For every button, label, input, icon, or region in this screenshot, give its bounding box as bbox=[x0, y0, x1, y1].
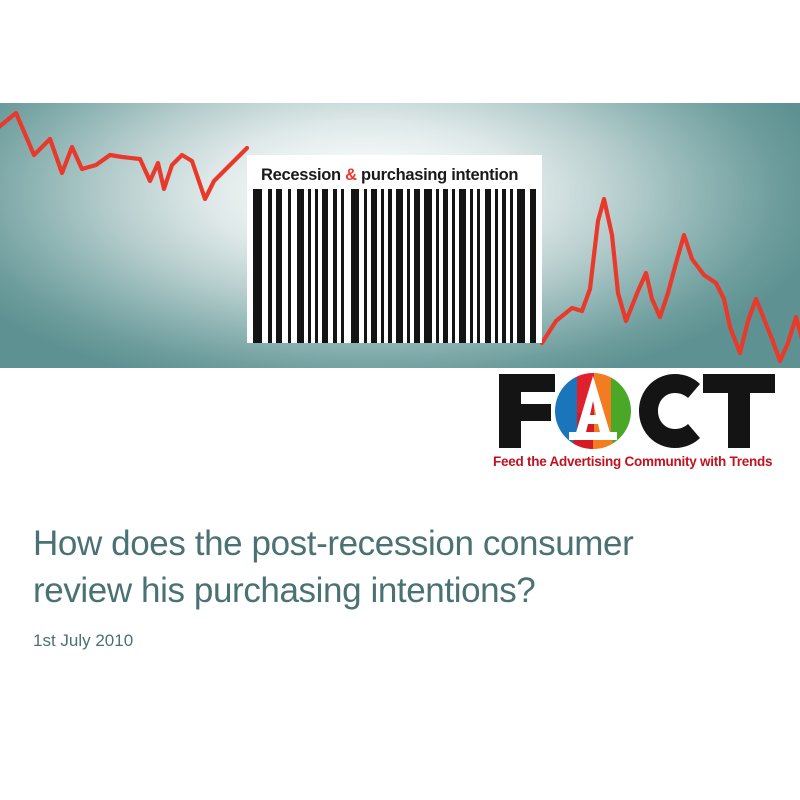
barcode-graphic: Recession & purchasing intention bbox=[247, 155, 542, 343]
logo-letter-t bbox=[703, 374, 775, 448]
fact-logo-mark bbox=[489, 370, 789, 452]
logo-letter-a-mark bbox=[555, 373, 633, 449]
fact-logo-tagline: Feed the Advertising Community with Tren… bbox=[493, 453, 789, 470]
logo-letter-f bbox=[499, 374, 555, 448]
trend-line-right bbox=[542, 199, 800, 361]
slide-root: Recession & purchasing intention bbox=[0, 0, 800, 800]
barcode-bars bbox=[247, 189, 542, 343]
recession-banner-image: Recession & purchasing intention bbox=[0, 103, 800, 368]
trend-line-left bbox=[0, 113, 247, 199]
barcode-caption-ampersand: & bbox=[345, 166, 357, 184]
barcode-caption: Recession & purchasing intention bbox=[261, 163, 536, 187]
headline-block: How does the post-recession consumer rev… bbox=[33, 520, 763, 652]
barcode-caption-part-1: Recession bbox=[261, 166, 345, 184]
logo-letter-c bbox=[639, 374, 700, 448]
fact-logo: Feed the Advertising Community with Tren… bbox=[489, 370, 789, 478]
page-title: How does the post-recession consumer rev… bbox=[33, 520, 763, 614]
barcode-caption-part-2: purchasing intention bbox=[357, 166, 518, 184]
presentation-date: 1st July 2010 bbox=[33, 630, 763, 652]
